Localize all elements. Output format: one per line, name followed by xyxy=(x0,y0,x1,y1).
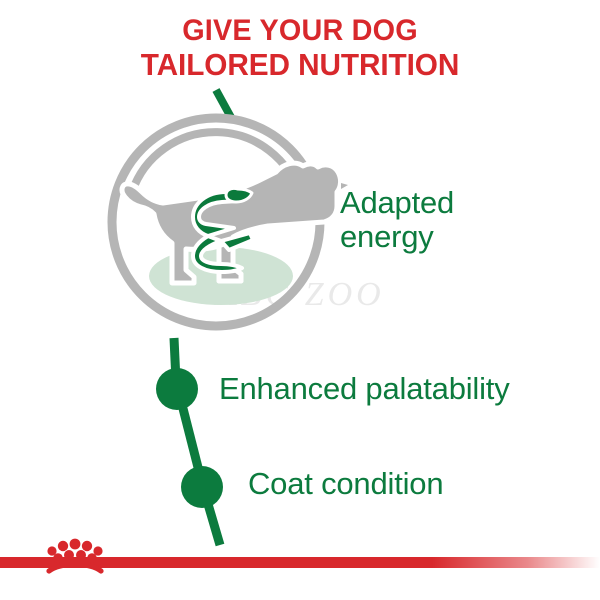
bullet-node-coat-condition xyxy=(181,466,223,508)
benefit-label-line-1: Adapted xyxy=(340,185,454,220)
poster-artwork xyxy=(0,0,600,600)
bullet-node-enhanced-palatability xyxy=(156,368,198,410)
benefit-label-adapted-energy: Adapted energy xyxy=(340,186,550,254)
benefit-label-enhanced-palatability: Enhanced palatability xyxy=(219,371,510,407)
benefit-label-line-2: energy xyxy=(340,219,434,254)
royal-canin-crown-logo xyxy=(38,536,112,578)
benefit-label-coat-condition: Coat condition xyxy=(248,466,443,502)
crown-icon xyxy=(38,536,112,578)
royal-canin-promo-poster: GIVE YOUR DOG TAILORED NUTRITION ABC ZOO xyxy=(0,0,600,600)
